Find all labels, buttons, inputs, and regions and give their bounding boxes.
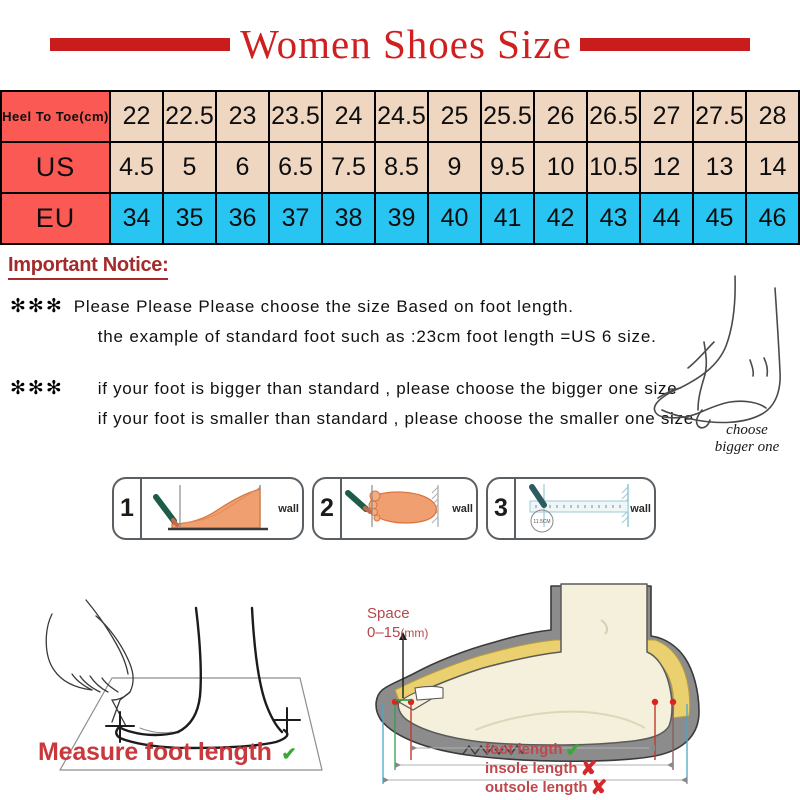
green-check-icon: ✔: [565, 741, 580, 759]
legend-row: foot length ✔: [485, 740, 607, 759]
size-cell: 26: [534, 91, 587, 142]
size-cell: 10: [534, 142, 587, 193]
size-cell: 27.5: [693, 91, 746, 142]
space-tolerance-label: Space 0–15(mm): [367, 604, 428, 643]
page-title: Women Shoes Size: [240, 24, 572, 65]
size-cell: 23: [216, 91, 269, 142]
legend-label: insole length: [485, 760, 578, 777]
size-cell: 9: [428, 142, 481, 193]
legend-label: foot length: [485, 741, 562, 758]
notice-body: ✻✻✻ Please Please Please choose the size…: [10, 292, 690, 450]
size-cell: 26.5: [587, 91, 640, 142]
size-cell: 34: [110, 193, 163, 244]
step-1-illustration: wall: [142, 479, 302, 538]
size-cell: 36: [216, 193, 269, 244]
size-cell: 22: [110, 91, 163, 142]
caption-text: Measure foot length: [38, 738, 272, 766]
size-cell: 7.5: [322, 142, 375, 193]
red-cross-icon: ✘: [591, 778, 608, 798]
caption-line: bigger one: [692, 439, 800, 456]
wall-label: wall: [630, 503, 651, 515]
size-table-row: EU34353637383940414243444546: [1, 193, 799, 244]
legend-row: outsole length ✘: [485, 778, 607, 797]
size-cell: 4.5: [110, 142, 163, 193]
notice-paragraph: ✻✻✻ if your foot is bigger than standard…: [10, 374, 690, 434]
size-cell: 14: [746, 142, 799, 193]
space-label-line: Space: [367, 604, 428, 623]
size-cell: 13: [693, 142, 746, 193]
legend-row: insole length ✘: [485, 759, 607, 778]
size-cell: 42: [534, 193, 587, 244]
green-check-icon: ✔: [281, 744, 296, 764]
size-cell: 25: [428, 91, 481, 142]
size-cell: 10.5: [587, 142, 640, 193]
notice-paragraph: ✻✻✻ Please Please Please choose the size…: [10, 292, 690, 352]
measure-foot-length-caption: Measure foot length ✔: [38, 738, 308, 767]
notice-line: Please Please Please choose the size Bas…: [74, 292, 690, 322]
title-rule-left: [50, 38, 230, 51]
size-cell: 9.5: [481, 142, 534, 193]
ruler-value-text: 11.5CM: [533, 519, 550, 525]
measure-steps-row: 1 w: [112, 477, 657, 540]
size-cell: 46: [746, 193, 799, 244]
size-cell: 37: [269, 193, 322, 244]
step-number: 3: [488, 479, 516, 538]
step-2-card: 2 wall: [312, 477, 478, 540]
size-chart-table: Heel To Toe(cm)2222.52323.52424.52525.52…: [0, 90, 800, 245]
space-units: (mm): [400, 626, 428, 640]
notice-line: the example of standard foot such as :23…: [74, 322, 690, 352]
legend-label: outsole length: [485, 779, 588, 796]
foot-side-sketch-icon: [640, 268, 800, 448]
size-cell: 38: [322, 193, 375, 244]
size-cell: 23.5: [269, 91, 322, 142]
caption-line: choose: [692, 422, 800, 439]
size-cell: 43: [587, 193, 640, 244]
page-title-bar: Women Shoes Size: [0, 18, 800, 70]
size-cell: 22.5: [163, 91, 216, 142]
asterisk-marker: ✻✻✻: [10, 374, 64, 434]
step-2-illustration: wall: [342, 479, 476, 538]
asterisk-marker: ✻✻✻: [10, 292, 64, 352]
pencil-icon: [348, 493, 370, 512]
size-cell: 5: [163, 142, 216, 193]
size-cell: 25.5: [481, 91, 534, 142]
size-cell: 24: [322, 91, 375, 142]
title-rule-right: [580, 38, 750, 51]
size-cell: 28: [746, 91, 799, 142]
size-cell: 41: [481, 193, 534, 244]
length-legend: foot length ✔ insole length ✘ outsole le…: [485, 740, 607, 797]
notice-line: if your foot is smaller than standard , …: [74, 404, 694, 434]
size-cell: 6: [216, 142, 269, 193]
notice-line: if your foot is bigger than standard , p…: [74, 374, 694, 404]
step-number: 2: [314, 479, 342, 538]
wall-label: wall: [278, 503, 299, 515]
size-cell: 8.5: [375, 142, 428, 193]
size-cell: 24.5: [375, 91, 428, 142]
size-row-header: US: [1, 142, 110, 193]
size-cell: 12: [640, 142, 693, 193]
wall-label: wall: [452, 503, 473, 515]
pencil-icon: [156, 497, 177, 525]
size-cell: 35: [163, 193, 216, 244]
size-cell: 44: [640, 193, 693, 244]
space-range-value: 0–15: [367, 624, 400, 641]
choose-bigger-one-caption: choose bigger one: [692, 422, 800, 456]
size-cell: 27: [640, 91, 693, 142]
size-cell: 45: [693, 193, 746, 244]
step-1-card: 1 w: [112, 477, 304, 540]
important-notice-heading: Important Notice:: [8, 254, 168, 280]
size-row-header: Heel To Toe(cm): [1, 91, 110, 142]
step-3-card: 3: [486, 477, 656, 540]
size-cell: 6.5: [269, 142, 322, 193]
size-table-row: Heel To Toe(cm)2222.52323.52424.52525.52…: [1, 91, 799, 142]
step-3-illustration: 11.5CM wall: [516, 479, 654, 538]
red-cross-icon: ✘: [581, 759, 598, 779]
size-cell: 39: [375, 193, 428, 244]
step-number: 1: [114, 479, 142, 538]
size-table-row: US4.5566.57.58.599.51010.5121314: [1, 142, 799, 193]
size-cell: 40: [428, 193, 481, 244]
size-row-header: EU: [1, 193, 110, 244]
